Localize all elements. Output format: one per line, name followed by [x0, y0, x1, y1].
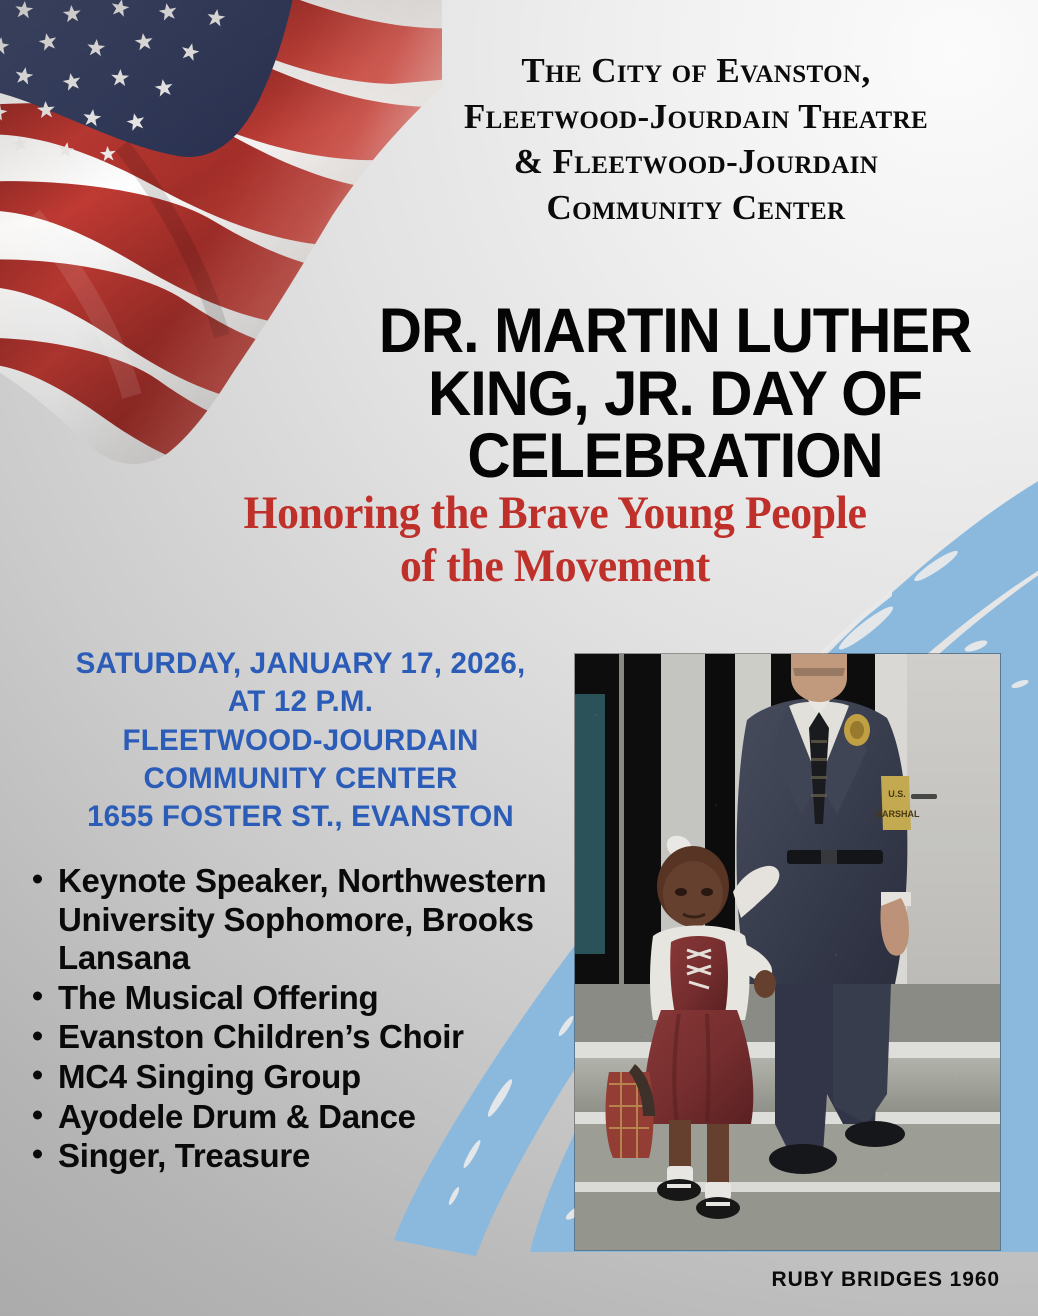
- org-line-3: & Fleetwood-Jourdain: [366, 139, 1026, 185]
- subtitle-line-1: Honoring the Brave Young People: [178, 487, 931, 540]
- title-line-3: CELEBRATION: [347, 425, 1003, 487]
- photo-caption: RUBY BRIDGES 1960: [700, 1268, 1000, 1292]
- poster-canvas: The City of Evanston, Fleetwood-Jourdain…: [0, 0, 1038, 1316]
- program-item-label: Singer, Treasure: [58, 1137, 310, 1174]
- program-item-label: Evanston Children’s Choir: [58, 1018, 464, 1055]
- event-venue-line-1: FLEETWOOD-JOURDAIN: [28, 722, 573, 760]
- title-line-2: KING, JR. DAY OF: [347, 363, 1003, 425]
- list-item: MC4 Singing Group: [30, 1058, 590, 1097]
- org-line-1: The City of Evanston,: [366, 48, 1026, 94]
- program-list: Keynote Speaker, Northwestern University…: [30, 862, 590, 1177]
- list-item: Ayodele Drum & Dance: [30, 1098, 590, 1137]
- program-item-label: MC4 Singing Group: [58, 1058, 361, 1095]
- list-item: The Musical Offering: [30, 979, 590, 1018]
- program-item-label: The Musical Offering: [58, 979, 378, 1016]
- bullet-icon: [33, 1110, 42, 1119]
- bullet-icon: [33, 991, 42, 1000]
- list-item: Keynote Speaker, Northwestern University…: [30, 862, 590, 978]
- event-date: SATURDAY, JANUARY 17, 2026,: [28, 645, 573, 683]
- bullet-icon: [33, 1031, 42, 1040]
- list-item: Singer, Treasure: [30, 1137, 590, 1176]
- page-title: DR. MARTIN LUTHER KING, JR. DAY OF CELEB…: [347, 300, 1003, 487]
- organization-header: The City of Evanston, Fleetwood-Jourdain…: [366, 48, 1026, 230]
- bullet-icon: [33, 1150, 42, 1159]
- org-line-4: Community Center: [366, 185, 1026, 231]
- title-line-1: DR. MARTIN LUTHER: [347, 300, 1003, 362]
- subtitle-line-2: of the Movement: [178, 540, 931, 593]
- bullet-icon: [33, 1071, 42, 1080]
- event-time: AT 12 P.M.: [28, 683, 573, 721]
- page-subtitle: Honoring the Brave Young People of the M…: [178, 487, 931, 592]
- event-details: SATURDAY, JANUARY 17, 2026, AT 12 P.M. F…: [28, 645, 573, 837]
- program-item-label: Keynote Speaker, Northwestern University…: [58, 862, 546, 976]
- bullet-icon: [33, 875, 42, 884]
- event-address: 1655 FOSTER ST., EVANSTON: [28, 798, 573, 836]
- program-item-label: Ayodele Drum & Dance: [58, 1098, 416, 1135]
- list-item: Evanston Children’s Choir: [30, 1018, 590, 1057]
- org-line-2: Fleetwood-Jourdain Theatre: [366, 94, 1026, 140]
- ruby-bridges-photo: U.S. MARSHAL: [575, 654, 1000, 1250]
- event-venue-line-2: COMMUNITY CENTER: [28, 760, 573, 798]
